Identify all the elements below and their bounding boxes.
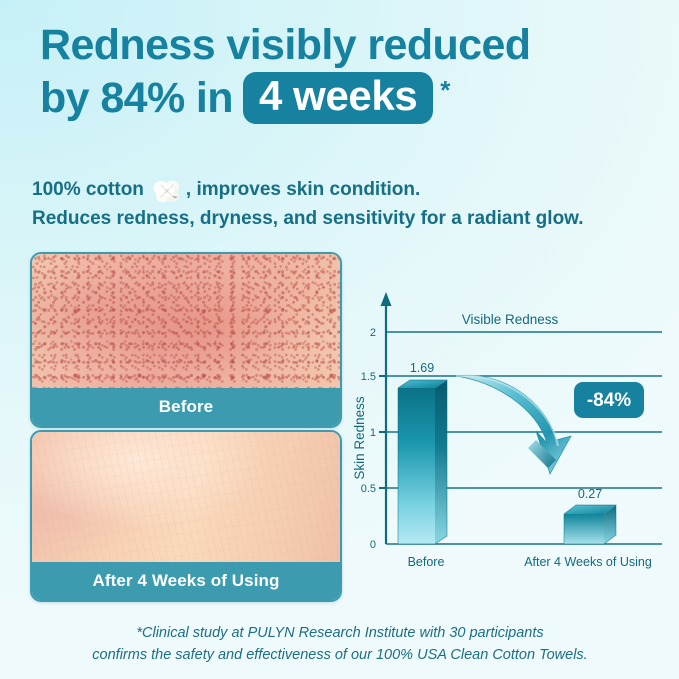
- cotton-boll-icon: [150, 176, 184, 206]
- headline-line-1: Redness visibly reduced: [40, 22, 650, 68]
- bar-before: [398, 380, 447, 544]
- clear-skin-texture: [32, 432, 340, 562]
- footnote: *Clinical study at PULYN Research Instit…: [40, 622, 640, 667]
- after-photo-label: After 4 Weeks of Using: [32, 562, 340, 600]
- chart-x-tick-labels: Before After 4 Weeks of Using: [408, 555, 652, 569]
- subtitle: 100% cotton , improves skin conditio: [32, 175, 657, 234]
- infographic-poster: Redness visibly reduced by 84% in 4 week…: [0, 0, 679, 679]
- ytick-0: 0: [370, 539, 376, 551]
- chart-y-axis-title: Skin Redness: [352, 396, 367, 480]
- before-photo-label: Before: [32, 388, 340, 426]
- xtick-after: After 4 Weeks of Using: [524, 555, 652, 569]
- irritated-skin-texture: [32, 254, 340, 388]
- subtitle-text-after-icon: , improves skin condition.: [186, 176, 420, 205]
- footnote-line-1: *Clinical study at PULYN Research Instit…: [40, 622, 640, 644]
- skin-redness-bar-chart: 0 0.5 1 1.5 2 Skin Redness Visible Redne…: [350, 288, 665, 584]
- chart-y-axis: [379, 292, 392, 544]
- footnote-line-2: confirms the safety and effectiveness of…: [40, 644, 640, 666]
- subtitle-text-before-icon: 100% cotton: [32, 176, 144, 205]
- footnote-asterisk: *: [440, 76, 450, 104]
- before-photo-card: Before: [30, 252, 342, 428]
- xtick-before: Before: [408, 555, 445, 569]
- chart-svg: 0 0.5 1 1.5 2 Skin Redness Visible Redne…: [350, 288, 665, 584]
- headline-line-2-prefix: by 84% in: [40, 75, 233, 121]
- bar-after: [564, 505, 616, 544]
- bar-before-value-label: 1.69: [410, 361, 434, 375]
- before-photo-image: [32, 254, 340, 388]
- subtitle-line-1: 100% cotton , improves skin conditio: [32, 175, 657, 205]
- after-photo-card: After 4 Weeks of Using: [30, 430, 342, 602]
- reduction-badge-label: -84%: [587, 390, 631, 411]
- subtitle-line-2: Reduces redness, dryness, and sensitivit…: [32, 205, 657, 234]
- ytick-1: 1: [370, 427, 376, 439]
- headline-line-2: by 84% in 4 weeks *: [40, 72, 650, 124]
- ytick-05: 0.5: [361, 483, 376, 495]
- reduction-badge: -84%: [574, 382, 644, 418]
- bar-after-value-label: 0.27: [578, 487, 602, 501]
- weeks-highlight-badge: 4 weeks: [243, 72, 433, 124]
- ytick-15: 1.5: [361, 371, 376, 383]
- ytick-2: 2: [370, 327, 376, 339]
- after-photo-image: [32, 432, 340, 562]
- curved-down-arrow-icon: [456, 375, 571, 474]
- chart-title: Visible Redness: [462, 312, 559, 327]
- headline: Redness visibly reduced by 84% in 4 week…: [40, 22, 650, 124]
